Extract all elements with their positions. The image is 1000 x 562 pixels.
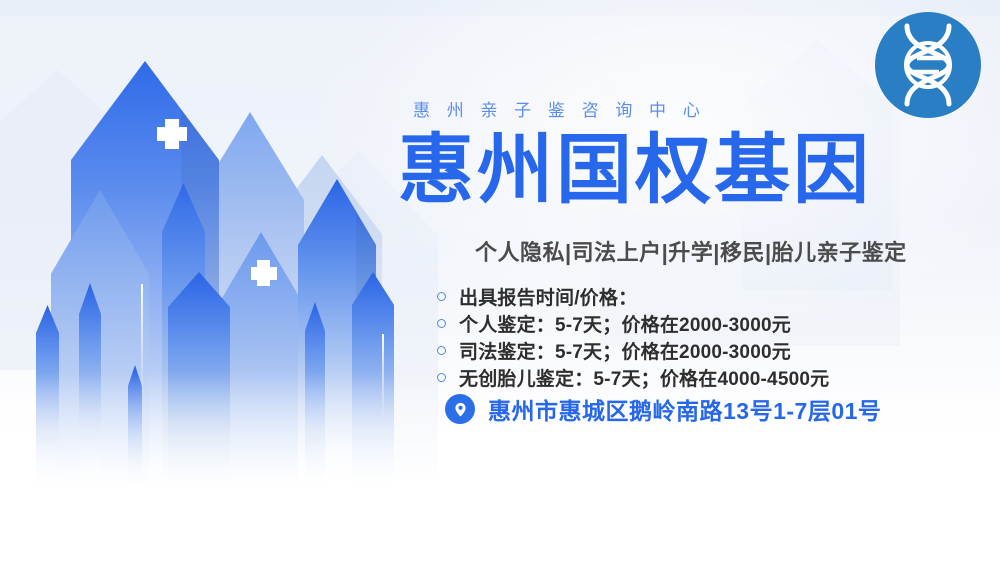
list-item-label: 司法鉴定：5-7天；价格在2000-3000元 bbox=[459, 337, 791, 364]
list-item-label: 个人鉴定：5-7天；价格在2000-3000元 bbox=[459, 310, 791, 337]
circle-outline-icon bbox=[437, 292, 446, 301]
eyebrow-text: 惠 州 亲 子 鉴 咨 询 中 心 bbox=[413, 96, 706, 121]
medical-cross-icon-1-vert bbox=[165, 119, 179, 149]
medical-cross-icon-2-vert bbox=[257, 260, 270, 286]
list-item-label: 出具报告时间/价格： bbox=[459, 283, 637, 310]
promo-banner: 惠 州 亲 子 鉴 咨 询 中 心 惠州国权基因 个人隐私|司法上户|升学|移民… bbox=[0, 0, 1000, 562]
list-item-label: 无创胎儿鉴定：5-7天；价格在4000-4500元 bbox=[459, 364, 829, 391]
circle-outline-icon bbox=[437, 346, 446, 355]
circle-outline-icon bbox=[437, 373, 446, 382]
circle-outline-icon bbox=[437, 319, 446, 328]
services-list: 出具报告时间/价格： 个人鉴定：5-7天；价格在2000-3000元 司法鉴定：… bbox=[437, 283, 829, 391]
address-text: 惠州市惠城区鹅岭南路13号1-7层01号 bbox=[488, 392, 881, 426]
list-item: 司法鉴定：5-7天；价格在2000-3000元 bbox=[437, 337, 829, 363]
map-pin-icon bbox=[445, 394, 475, 424]
list-item: 个人鉴定：5-7天；价格在2000-3000元 bbox=[437, 310, 829, 336]
page-title: 惠州国权基因 bbox=[398, 132, 872, 208]
list-item: 无创胎儿鉴定：5-7天；价格在4000-4500元 bbox=[437, 364, 829, 390]
list-item: 出具报告时间/价格： bbox=[437, 283, 829, 309]
address-line: 惠州市惠城区鹅岭南路13号1-7层01号 bbox=[445, 392, 881, 426]
services-tagline: 个人隐私|司法上户|升学|移民|胎儿亲子鉴定 bbox=[475, 235, 907, 267]
content-column: 惠 州 亲 子 鉴 咨 询 中 心 惠州国权基因 个人隐私|司法上户|升学|移民… bbox=[395, 0, 1000, 562]
